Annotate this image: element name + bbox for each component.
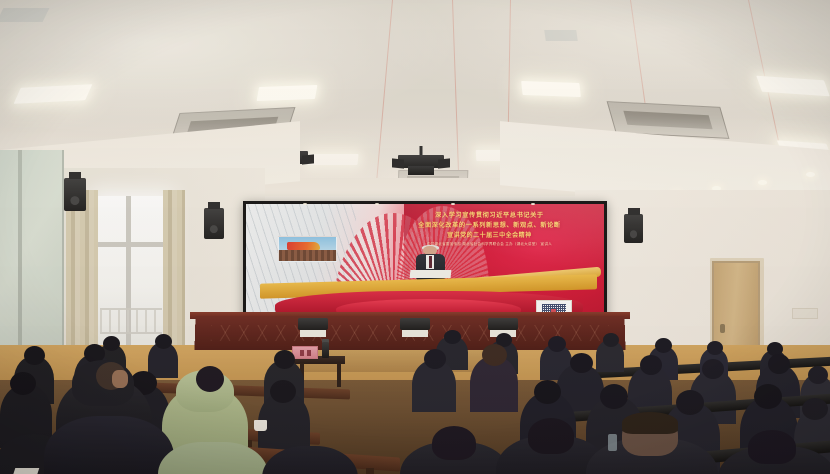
attendee-head: [676, 390, 704, 415]
table-microphone: [488, 318, 518, 330]
attendee-head: [702, 359, 724, 379]
bezel-reflection: [451, 203, 455, 205]
presenter-papers: [409, 270, 451, 278]
recessed-downlight: [758, 180, 767, 185]
attendee-head: [603, 333, 619, 347]
foreground-attendee-hair: [622, 412, 678, 434]
attendee-head: [548, 336, 566, 352]
attendee-head: [528, 418, 574, 454]
attendee-head: [432, 426, 476, 460]
attendee-head: [534, 380, 561, 404]
attendee-head: [748, 430, 796, 464]
attendee-head: [274, 350, 295, 369]
attendee-head: [570, 353, 593, 373]
attendee-head: [424, 349, 446, 369]
attendee-head: [482, 344, 507, 366]
foreground-attendee-left: [44, 416, 174, 474]
screen-headline-line3: 宣讲党的二十届三中全会精神: [389, 232, 590, 240]
bezel-reflection: [375, 203, 379, 205]
glasses-attendee-face: [112, 370, 128, 388]
recessed-downlight: [806, 172, 815, 177]
screen-headline-line1: 深入学习宣传贯彻习近平总书记关于: [389, 212, 590, 220]
attendee-head: [768, 354, 790, 374]
hanging-speaker-cluster: [398, 146, 444, 178]
skyline-graphic: [279, 250, 336, 260]
table-microphone: [400, 318, 430, 330]
bench-leg: [366, 468, 374, 474]
screen-inset-image: [278, 236, 337, 261]
attendee-head: [754, 384, 782, 409]
window-transom: [96, 242, 168, 247]
wall-speaker: [204, 208, 224, 239]
attendee-head: [600, 384, 628, 409]
sage-jacket-attendee-head: [196, 366, 224, 392]
attendee-head: [655, 338, 672, 353]
window: [96, 196, 168, 348]
attendee-head: [155, 334, 172, 349]
screen-headline-block: 深入学习宣传贯彻习近平总书记关于 全面深化改革的一系列新思想、新观点、新论断 宣…: [389, 212, 590, 247]
attendee-head: [707, 341, 723, 355]
presenter-figure: [414, 246, 446, 281]
paper-sheet: [13, 468, 40, 474]
attendee-head: [802, 398, 828, 420]
attendee-head: [24, 346, 45, 365]
attendee-head: [10, 372, 36, 395]
conference-hall-photo: 深入学习宣传贯彻习近平总书记关于 全面深化改革的一系列新思想、新观点、新论断 宣…: [0, 0, 830, 474]
water-bottle-aisle: [608, 434, 617, 451]
screen-headline-line2: 全面深化改革的一系列新思想、新观点、新论断: [389, 222, 590, 230]
audience-area: [0, 330, 830, 474]
wall-plate: [792, 308, 818, 319]
attendee-head: [808, 366, 828, 384]
wall-speaker: [624, 214, 643, 243]
flag-graphic: [287, 242, 320, 251]
bezel-reflection: [531, 203, 535, 205]
attendee-head: [270, 380, 296, 403]
attendee-head: [444, 330, 461, 344]
wall-speaker: [64, 178, 86, 211]
table-microphone: [298, 318, 328, 330]
paper-cup: [254, 420, 267, 431]
attendee-head: [103, 336, 120, 351]
attendee-head: [640, 355, 662, 375]
bezel-reflection: [303, 203, 307, 205]
presenter-tie: [429, 256, 432, 268]
